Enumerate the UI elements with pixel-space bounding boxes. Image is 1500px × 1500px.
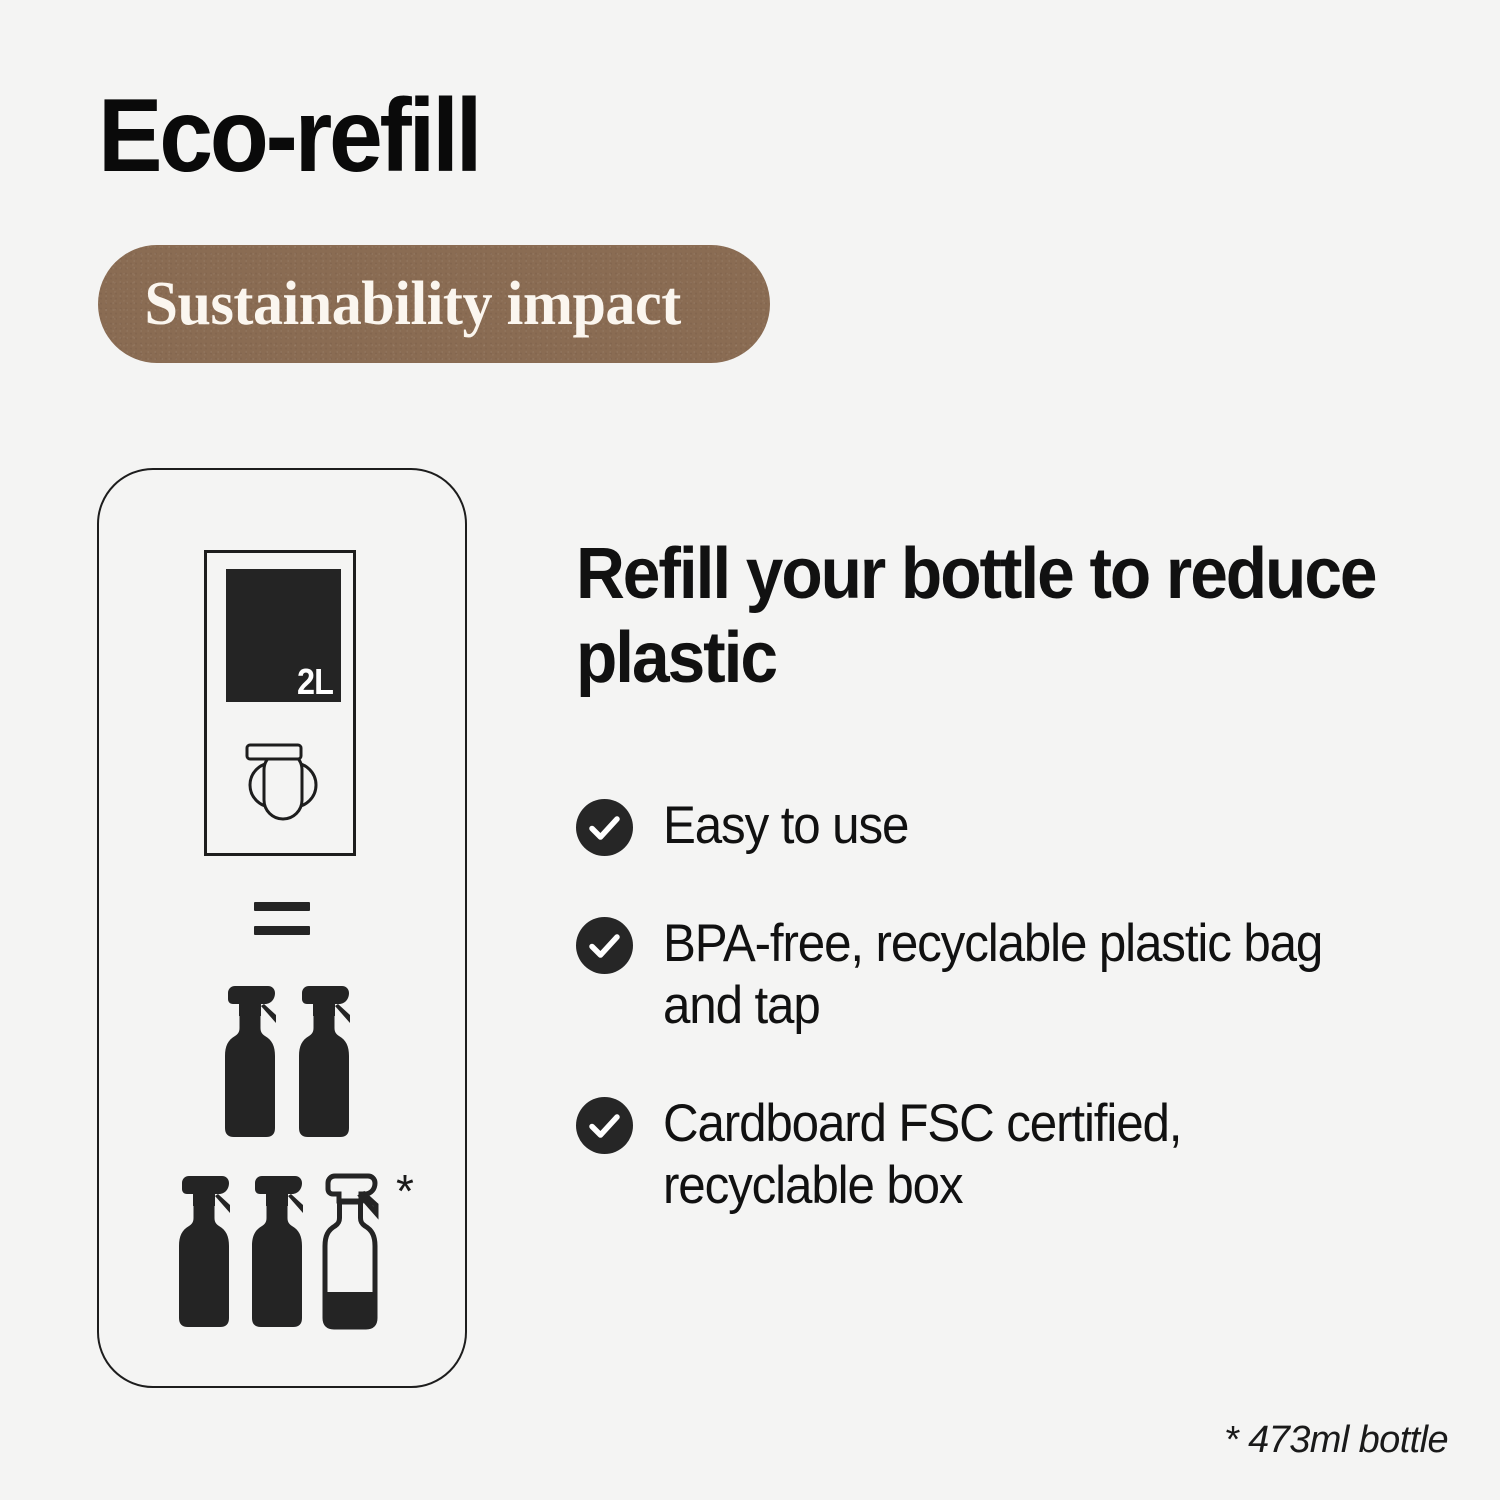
- equals-icon: [254, 902, 310, 935]
- feature-label: Cardboard FSC certified, recyclable box: [663, 1093, 1400, 1217]
- sustainability-badge: Sustainability impact: [98, 245, 770, 363]
- check-circle-icon: [576, 917, 633, 974]
- headline: Refill your bottle to reduce plastic: [576, 533, 1443, 700]
- list-item: BPA-free, recyclable plastic bag and tap: [576, 913, 1456, 1037]
- refill-carton-icon: 2L: [204, 550, 356, 856]
- asterisk-marker: *: [396, 1168, 414, 1214]
- headline-block: Refill your bottle to reduce plastic: [576, 533, 1446, 700]
- footnote: * 473ml bottle: [1224, 1419, 1448, 1462]
- list-item: Cardboard FSC certified, recyclable box: [576, 1093, 1456, 1217]
- spray-bottle-icon-partial: [319, 1172, 381, 1330]
- sustainability-badge-label: Sustainability impact: [98, 269, 681, 340]
- bottle-row-two: [219, 982, 355, 1140]
- illustration-card: 2L: [97, 468, 467, 1388]
- list-item: Easy to use: [576, 795, 1456, 857]
- spray-bottle-icon: [293, 982, 355, 1140]
- spray-bottle-icon: [246, 1172, 308, 1330]
- carton-volume-label: 2L: [297, 664, 333, 700]
- equals-bar-bottom: [254, 926, 310, 935]
- feature-label: BPA-free, recyclable plastic bag and tap: [663, 913, 1400, 1037]
- feature-list: Easy to use BPA-free, recyclable plastic…: [576, 795, 1456, 1217]
- equals-bar-top: [254, 902, 310, 911]
- check-circle-icon: [576, 1097, 633, 1154]
- page-title: Eco-refill: [98, 82, 479, 191]
- spray-bottle-icon: [173, 1172, 235, 1330]
- eco-refill-infographic: Eco-refill Sustainability impact 2L: [0, 0, 1500, 1500]
- spray-bottle-icon: [219, 982, 281, 1140]
- feature-label: Easy to use: [663, 795, 1400, 857]
- check-circle-icon: [576, 799, 633, 856]
- bottle-row-three: [173, 1172, 381, 1330]
- tap-icon: [242, 737, 318, 828]
- carton-label-panel: 2L: [226, 569, 341, 702]
